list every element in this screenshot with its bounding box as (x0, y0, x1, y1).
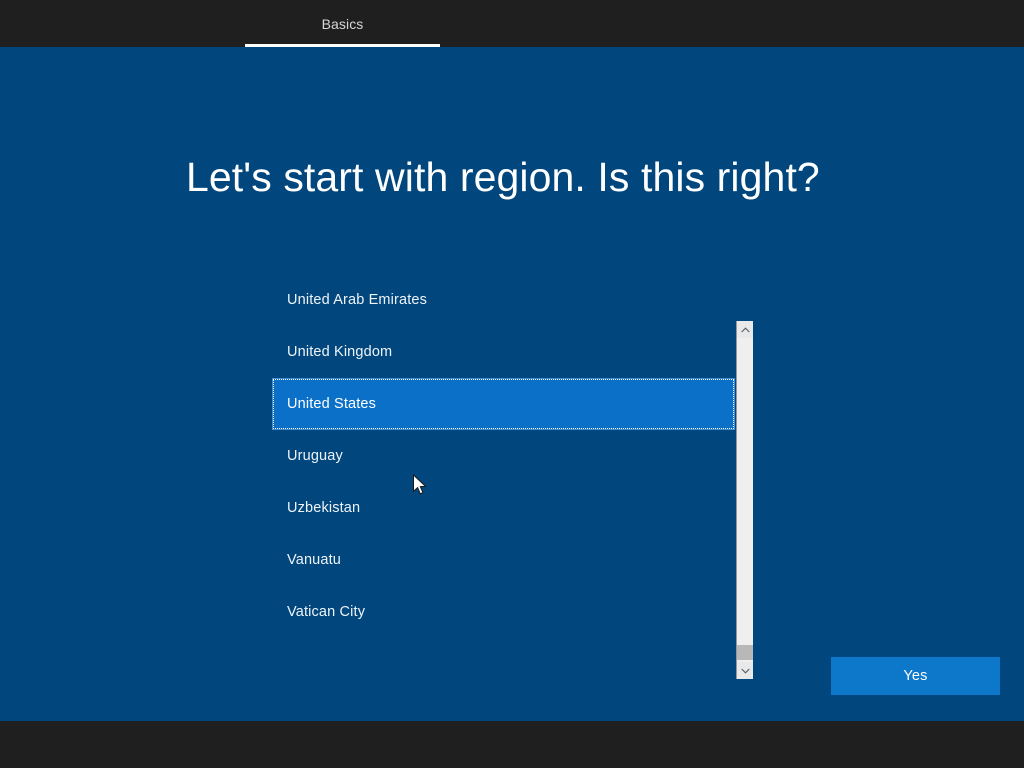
tab-basics[interactable]: Basics (245, 0, 440, 47)
scrollbar-thumb[interactable] (737, 645, 753, 660)
scrollbar-down-button[interactable] (737, 662, 753, 679)
region-list-scrollbar[interactable] (736, 321, 753, 679)
chevron-up-icon (741, 327, 750, 333)
list-item[interactable]: Uzbekistan (272, 482, 735, 534)
page-title: Let's start with region. Is this right? (186, 151, 946, 203)
region-picker: United Arab Emirates United Kingdom Unit… (272, 274, 753, 635)
list-item[interactable]: United Kingdom (272, 326, 735, 378)
tab-basics-label: Basics (322, 17, 364, 31)
confirm-yes-button[interactable]: Yes (831, 657, 1000, 695)
main-content: Let's start with region. Is this right? … (0, 47, 1024, 721)
region-item-label: United Kingdom (287, 343, 392, 361)
list-item[interactable]: Uruguay (272, 430, 735, 482)
region-item-label: United States (287, 395, 376, 413)
region-list[interactable]: United Arab Emirates United Kingdom Unit… (272, 274, 735, 635)
region-item-label: Uruguay (287, 447, 343, 465)
tab-strip: Basics (0, 0, 1024, 47)
region-item-label: Uzbekistan (287, 499, 360, 517)
list-item[interactable]: United Arab Emirates (272, 274, 735, 326)
list-item[interactable]: Vanuatu (272, 534, 735, 586)
region-item-label: Vatican City (287, 603, 365, 621)
scrollbar-track[interactable] (737, 338, 753, 662)
list-item[interactable]: Vatican City (272, 586, 735, 635)
region-item-label: United Arab Emirates (287, 291, 427, 309)
status-bar (0, 721, 1024, 768)
list-item-selected[interactable]: United States (272, 378, 735, 430)
chevron-down-icon (741, 668, 750, 674)
title-bar: Basics (0, 0, 1024, 47)
region-item-label: Vanuatu (287, 551, 341, 569)
scrollbar-up-button[interactable] (737, 321, 753, 338)
